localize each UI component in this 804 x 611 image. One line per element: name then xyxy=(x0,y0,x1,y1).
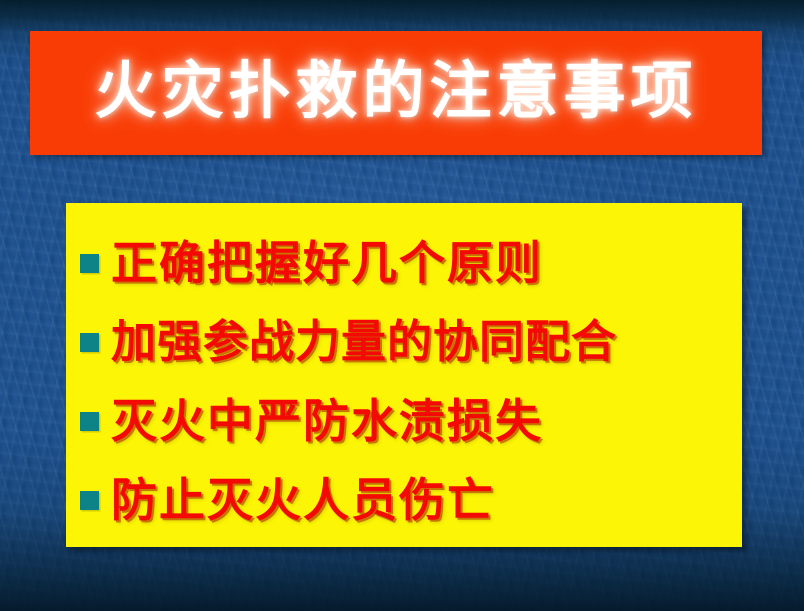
list-item-label: 防止灭火人员伤亡 xyxy=(111,477,495,523)
list-item: 灭火中严防水渍损失 xyxy=(66,381,742,460)
list-item: 防止灭火人员伤亡 xyxy=(66,460,742,539)
bullet-list: 正确把握好几个原则 加强参战力量的协同配合 灭火中严防水渍损失 防止灭火人员伤亡 xyxy=(66,203,742,539)
list-item-label: 灭火中严防水渍损失 xyxy=(111,398,543,444)
square-bullet-icon xyxy=(80,333,99,352)
page-title: 火灾扑救的注意事项 xyxy=(94,60,697,122)
square-bullet-icon xyxy=(80,491,99,510)
presentation-slide: 火灾扑救的注意事项 正确把握好几个原则 加强参战力量的协同配合 灭火中严防水渍损… xyxy=(0,0,804,611)
slide-content-panel: 正确把握好几个原则 加强参战力量的协同配合 灭火中严防水渍损失 防止灭火人员伤亡 xyxy=(66,203,742,547)
slide-title-band: 火灾扑救的注意事项 xyxy=(30,31,762,155)
square-bullet-icon xyxy=(80,254,99,273)
list-item-label: 正确把握好几个原则 xyxy=(111,240,543,286)
list-item-label: 加强参战力量的协同配合 xyxy=(111,319,617,364)
list-item: 正确把握好几个原则 xyxy=(66,223,742,302)
square-bullet-icon xyxy=(80,412,99,431)
list-item: 加强参战力量的协同配合 xyxy=(66,302,742,381)
